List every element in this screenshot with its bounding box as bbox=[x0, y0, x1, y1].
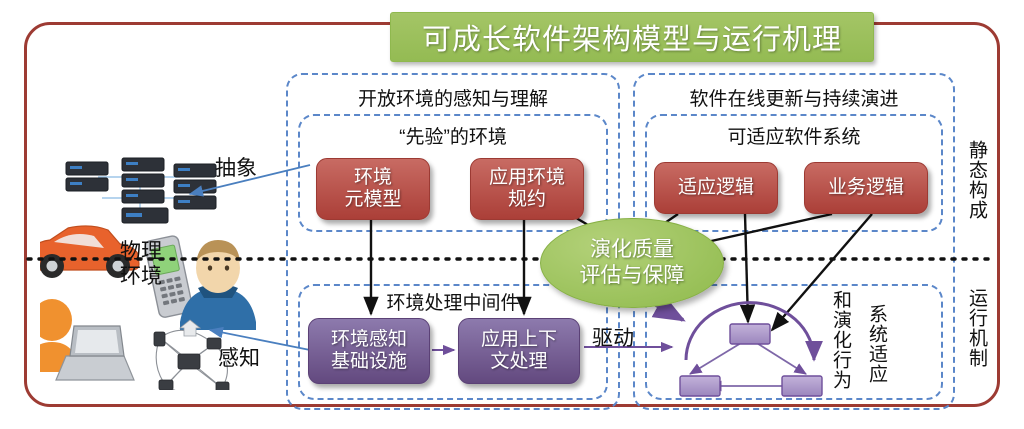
box-label-line2: 规约 bbox=[489, 189, 565, 211]
label-drive: 驱动 bbox=[592, 322, 634, 352]
label-abstract: 抽象 bbox=[215, 152, 257, 182]
graph-node-top bbox=[730, 324, 770, 344]
iot-network-icon bbox=[156, 330, 227, 390]
ellipse-line1: 演化质量 bbox=[590, 238, 674, 261]
box-label-line1: 应用上下 bbox=[481, 329, 557, 351]
diagram-title-banner: 可成长软件架构模型与运行机理 bbox=[390, 12, 874, 62]
left-top-inner-title: “先验”的环境 bbox=[298, 122, 608, 149]
box-label-line1: 环境感知 bbox=[331, 329, 407, 351]
side-label-runtime-mechanism: 运行机制 bbox=[966, 288, 986, 368]
box-adaptation-logic[interactable]: 适应逻辑 bbox=[654, 162, 778, 214]
ellipse-line2: 评估与保障 bbox=[580, 264, 685, 287]
laptop-user-icon bbox=[40, 299, 134, 380]
box-label-line1: 环境 bbox=[344, 167, 401, 189]
vertical-label-evolution-behavior: 和演化行为 bbox=[830, 290, 850, 390]
graph-node-bottom-right bbox=[782, 376, 822, 396]
vertical-label-system-adaptation: 系统适应 bbox=[866, 304, 886, 384]
diagram-canvas: 可成长软件架构模型与运行机理 bbox=[0, 0, 1024, 429]
box-environment-metamodel[interactable]: 环境 元模型 bbox=[316, 158, 430, 220]
label-physical-environment: 物理 环境 bbox=[120, 240, 162, 290]
box-label-line1: 业务逻辑 bbox=[828, 177, 904, 199]
right-top-inner-title: 可适应软件系统 bbox=[645, 122, 943, 149]
physical-line1: 物理 bbox=[120, 240, 162, 265]
box-application-context-processing[interactable]: 应用上下 文处理 bbox=[458, 318, 580, 384]
server-rack-icon bbox=[98, 177, 180, 208]
right-panel-title: 软件在线更新与持续演进 bbox=[633, 84, 955, 111]
box-label-line2: 元模型 bbox=[344, 189, 401, 211]
left-panel-title: 开放环境的感知与理解 bbox=[286, 84, 620, 111]
person-icon bbox=[180, 240, 256, 330]
box-label-line2: 文处理 bbox=[481, 351, 557, 373]
box-environment-sensing-infrastructure[interactable]: 环境感知 基础设施 bbox=[308, 318, 430, 384]
evolution-quality-ellipse[interactable]: 演化质量 评估与保障 bbox=[540, 218, 724, 308]
physical-line2: 环境 bbox=[120, 265, 162, 290]
side-label-static-composition: 静态构成 bbox=[966, 140, 986, 220]
box-label-line2: 基础设施 bbox=[331, 351, 407, 373]
box-application-environment-spec[interactable]: 应用环境 规约 bbox=[470, 158, 584, 220]
graph-node-bottom-left bbox=[680, 376, 720, 396]
system-adaptation-graph bbox=[672, 300, 828, 400]
box-label-line1: 适应逻辑 bbox=[678, 177, 754, 199]
page-title: 可成长软件架构模型与运行机理 bbox=[422, 16, 842, 58]
box-label-line1: 应用环境 bbox=[489, 167, 565, 189]
label-perceive: 感知 bbox=[218, 342, 260, 372]
box-business-logic[interactable]: 业务逻辑 bbox=[804, 162, 928, 214]
